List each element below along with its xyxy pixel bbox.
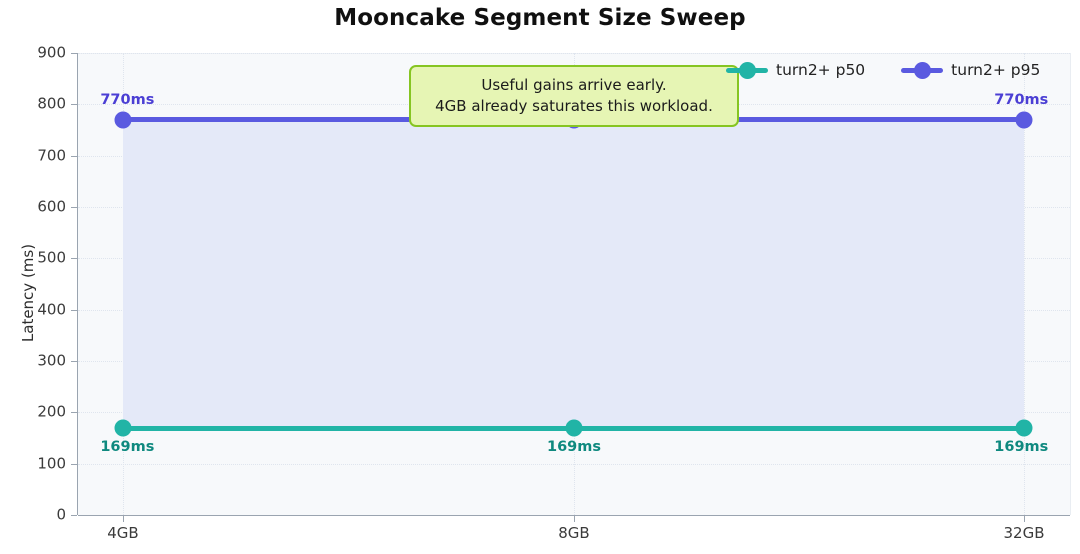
x-tick-mark bbox=[1024, 516, 1025, 522]
y-tick-mark bbox=[71, 207, 77, 208]
data-point-marker bbox=[115, 111, 132, 128]
data-point-marker bbox=[1016, 111, 1033, 128]
y-tick-label: 100 bbox=[37, 456, 66, 471]
series-line-turn2-p50 bbox=[574, 426, 1024, 431]
x-tick-label-8gb: 8GB bbox=[558, 524, 589, 542]
point-value-label: 770ms bbox=[994, 92, 1048, 108]
y-tick-mark bbox=[71, 515, 77, 516]
annotation-callout: Useful gains arrive early. 4GB already s… bbox=[409, 65, 739, 127]
y-tick-mark bbox=[71, 104, 77, 105]
y-tick-label: 500 bbox=[37, 251, 66, 266]
band-fill-p50-p95 bbox=[123, 120, 1024, 429]
data-point-marker bbox=[1016, 420, 1033, 437]
x-tick-label-4gb: 4GB bbox=[107, 524, 138, 542]
data-point-marker bbox=[566, 420, 583, 437]
legend-marker-dot bbox=[914, 62, 931, 79]
y-tick-label: 700 bbox=[37, 148, 66, 163]
y-tick-mark bbox=[71, 258, 77, 259]
legend-label: turn2+ p95 bbox=[951, 61, 1040, 79]
series-line-turn2-p50 bbox=[123, 426, 574, 431]
annotation-line-2: 4GB already saturates this workload. bbox=[421, 96, 727, 117]
y-axis-label: Latency (ms) bbox=[19, 193, 37, 393]
chart-legend: turn2+ p50turn2+ p95 bbox=[726, 61, 1040, 79]
y-tick-label: 0 bbox=[56, 508, 66, 523]
y-tick-label: 200 bbox=[37, 405, 66, 420]
annotation-line-1: Useful gains arrive early. bbox=[421, 75, 727, 96]
legend-swatch-icon bbox=[901, 62, 943, 79]
legend-label: turn2+ p50 bbox=[776, 61, 865, 79]
point-value-label: 169ms bbox=[100, 439, 154, 455]
point-value-label: 770ms bbox=[100, 92, 154, 108]
y-tick-mark bbox=[71, 53, 77, 54]
legend-entry-turn2-p50[interactable]: turn2+ p50 bbox=[726, 61, 865, 79]
y-tick-mark bbox=[71, 310, 77, 311]
x-tick-mark bbox=[574, 516, 575, 522]
y-axis-line bbox=[77, 53, 78, 515]
legend-entry-turn2-p95[interactable]: turn2+ p95 bbox=[901, 61, 1040, 79]
chart-title: Mooncake Segment Size Sweep bbox=[0, 5, 1080, 31]
x-tick-label-32gb: 32GB bbox=[1003, 524, 1044, 542]
y-tick-label: 800 bbox=[37, 97, 66, 112]
chart-figure: Mooncake Segment Size Sweep 010020030040… bbox=[0, 0, 1080, 554]
y-tick-mark bbox=[71, 156, 77, 157]
point-value-label: 169ms bbox=[994, 439, 1048, 455]
legend-swatch-icon bbox=[726, 62, 768, 79]
y-tick-mark bbox=[71, 464, 77, 465]
y-tick-label: 600 bbox=[37, 200, 66, 215]
x-tick-mark bbox=[123, 516, 124, 522]
legend-marker-dot bbox=[739, 62, 756, 79]
y-tick-label: 900 bbox=[37, 46, 66, 61]
y-tick-label: 400 bbox=[37, 302, 66, 317]
point-value-label: 169ms bbox=[547, 439, 601, 455]
y-tick-mark bbox=[71, 412, 77, 413]
data-point-marker bbox=[115, 420, 132, 437]
y-tick-mark bbox=[71, 361, 77, 362]
y-tick-label: 300 bbox=[37, 354, 66, 369]
